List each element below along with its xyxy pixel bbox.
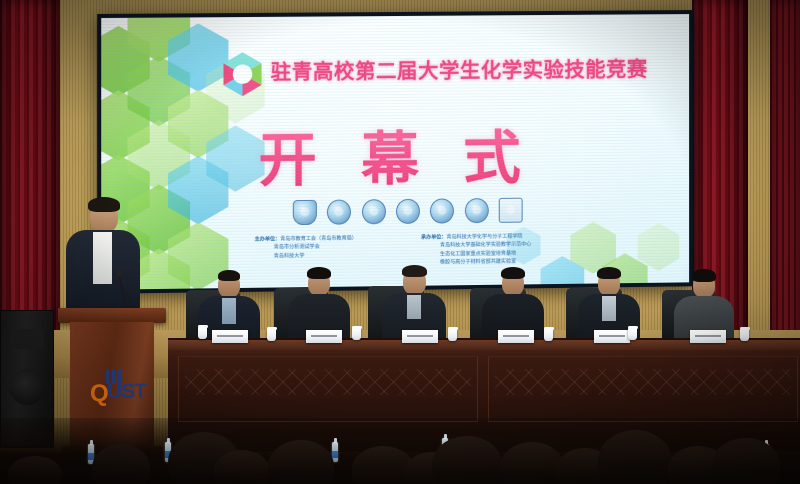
panelist-hair: [597, 267, 621, 279]
audience-foreground: [0, 418, 800, 484]
audience-head: [598, 430, 672, 484]
tea-cup: [544, 329, 553, 341]
panelist-hair: [402, 265, 427, 277]
tea-cup: [267, 329, 276, 341]
tea-cup: [352, 328, 361, 340]
table-panel-right: [488, 356, 798, 422]
led-presentation-screen: 驻青高校第二届大学生化学实验技能竞赛 开 幕 式 主办单位：青岛市教育工会（青岛…: [97, 10, 693, 294]
panelist-hair: [307, 267, 331, 279]
curtain-far-right: [770, 0, 800, 372]
tea-cup: [628, 328, 637, 340]
panelist-hair: [692, 269, 716, 282]
audience-head: [268, 440, 334, 484]
speaker-horn: [10, 329, 44, 349]
audience-head: [432, 436, 502, 484]
conference-scene: 驻青高校第二届大学生化学实验技能竞赛 开 幕 式 主办单位：青岛市教育工会（青岛…: [0, 0, 800, 484]
panelist-shirt: [407, 295, 421, 319]
qust-podium-logo: Q UST: [88, 374, 148, 408]
audience-head: [500, 442, 564, 484]
name-placard: [690, 330, 726, 343]
audience-head: [92, 444, 150, 484]
table-carving: [185, 369, 471, 395]
table-panel-left: [178, 356, 478, 422]
name-placard: [402, 330, 438, 343]
name-placard: [212, 330, 248, 343]
tea-cup: [198, 327, 207, 339]
table-carving: [495, 369, 791, 395]
panelist-hair: [218, 270, 240, 281]
name-placard: [594, 330, 630, 343]
audience-head: [214, 450, 270, 484]
panelist-shirt: [602, 296, 616, 321]
speaker-cone: [9, 369, 45, 405]
led-scanlines: [101, 14, 689, 290]
logo-letters-ust: UST: [107, 380, 146, 404]
name-placard: [498, 330, 534, 343]
tea-cup: [448, 329, 457, 341]
speaker-shirt: [93, 232, 112, 284]
podium-top: [58, 308, 166, 323]
logo-letter-q: Q: [90, 380, 109, 408]
speaker-hair: [88, 197, 120, 212]
audience-head: [712, 438, 780, 484]
panelist-hair: [501, 267, 525, 279]
name-placard: [306, 330, 342, 343]
audience-head: [8, 456, 62, 484]
tea-cup: [740, 329, 749, 341]
panelist-shirt: [222, 298, 236, 324]
